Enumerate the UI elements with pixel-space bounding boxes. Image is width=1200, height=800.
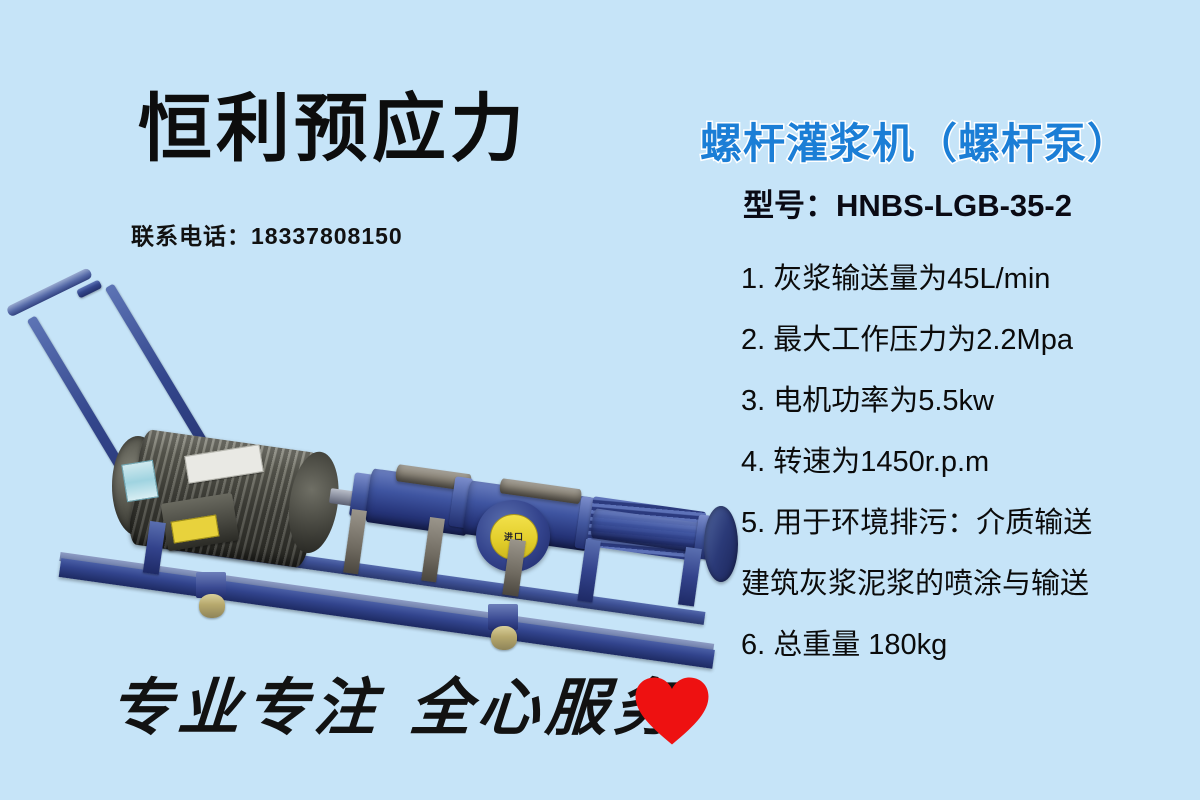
product-model: 型号：HNBS-LGB-35-2 [743,186,1072,226]
spec-item-continuation: 建筑灰浆泥浆的喷涂与输送 [741,554,1200,615]
spec-item: 3. 电机功率为5.5kw [741,371,1200,432]
caster-wheel [199,594,225,618]
spec-item: 2. 最大工作压力为2.2Mpa [741,310,1200,371]
motor-brand-sticker [121,460,159,503]
spec-item: 5. 用于环境排污：介质输送 [741,493,1200,554]
discharge-flange [704,506,738,582]
product-photo: 进口 [0,252,760,662]
poster-canvas: 恒利预应力 联系电话：18337808150 螺杆灌浆机（螺杆泵） 型号：HNB… [0,0,1200,800]
caster-wheel [491,626,517,650]
heart-icon [634,676,710,746]
spec-item: 6. 总重量 180kg [741,615,1200,676]
product-spec-list: 1. 灰浆输送量为45L/min 2. 最大工作压力为2.2Mpa 3. 电机功… [741,249,1200,676]
spec-item: 4. 转速为1450r.p.m [741,432,1200,493]
brand-headline: 恒利预应力 [138,86,528,172]
spec-item: 1. 灰浆输送量为45L/min [741,249,1200,310]
slogan-text: 专业专注 全心服务 [107,668,684,748]
contact-phone-line: 联系电话：18337808150 [131,221,403,251]
product-title: 螺杆灌浆机（螺杆泵） [700,118,1130,170]
